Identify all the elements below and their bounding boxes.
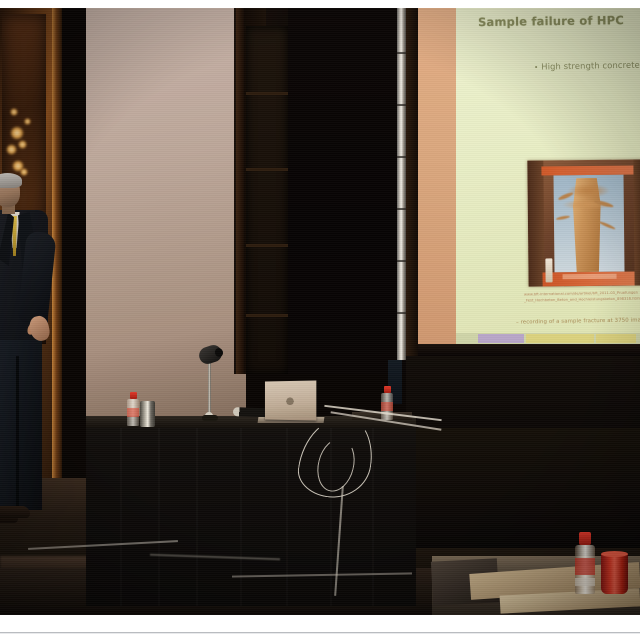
glass-rim: [601, 551, 628, 557]
red-drinking-glass: [601, 552, 628, 594]
frame-bottom-border: [0, 632, 640, 634]
drape-fold: [158, 428, 160, 606]
photo-top-band: [541, 166, 633, 176]
projected-slide: Sample failure of HPC •High strength con…: [456, 8, 640, 344]
foreground-water-bottle: [575, 532, 595, 594]
presenter-legs: [0, 334, 42, 510]
bottle-label: [381, 402, 393, 411]
presenter-hair: [0, 173, 22, 188]
drape-fold: [372, 428, 374, 606]
slide-title: Sample failure of HPC: [478, 13, 638, 29]
water-bottle-left: [127, 392, 139, 426]
bottle-cap: [130, 392, 137, 399]
macbook-laptop[interactable]: [265, 380, 316, 420]
trouser-seam: [16, 356, 19, 510]
bullet-point-icon: •: [534, 63, 538, 71]
drape-fold: [240, 428, 242, 606]
photo-right-frame: [633, 159, 640, 285]
slide-bullet-text: High strength concrete cylinder: [541, 59, 640, 72]
projection-screen: Sample failure of HPC •High strength con…: [418, 8, 640, 356]
presentation-photograph: Sample failure of HPC •High strength con…: [0, 8, 640, 615]
taskbar-button: [526, 334, 594, 343]
metal-tumbler: [140, 401, 155, 427]
bottle-label-lower: [575, 578, 595, 586]
scale-reference-bottle: [545, 258, 552, 282]
taskbar-button: [478, 334, 524, 343]
drape-fold: [120, 428, 122, 606]
microphone-stand-stem: [208, 360, 211, 418]
frame-top-border: [0, 0, 640, 8]
taskbar-button: [596, 334, 636, 343]
bottle-label: [127, 408, 139, 417]
slide-bullet-item: •High strength concrete cylinder: [534, 58, 640, 71]
slide-note-text: – recording of a sample fracture at 3750…: [516, 316, 640, 325]
screen-spill-area: [418, 8, 456, 344]
drape-fold: [286, 428, 288, 606]
apple-logo-icon: [286, 394, 295, 405]
drape-fold: [196, 428, 198, 606]
presenter-shoe: [0, 506, 30, 518]
microphone-stand-base: [202, 415, 218, 421]
bottle-cap: [579, 532, 591, 545]
bottle-label: [575, 558, 595, 575]
photo-left-frame: [527, 160, 544, 286]
right-table-surface: [416, 428, 640, 548]
presenter: [0, 176, 70, 608]
photo-frame: Sample failure of HPC •High strength con…: [0, 0, 640, 640]
concrete-cylinder-failure-photo: [527, 159, 640, 286]
photo-caption-strip: [563, 274, 617, 280]
screen-bottom-edge: [418, 344, 640, 356]
slide-source-credit: www.bft-international.com/de/artikel/bft…: [524, 288, 640, 303]
bottle-cap: [384, 386, 391, 393]
